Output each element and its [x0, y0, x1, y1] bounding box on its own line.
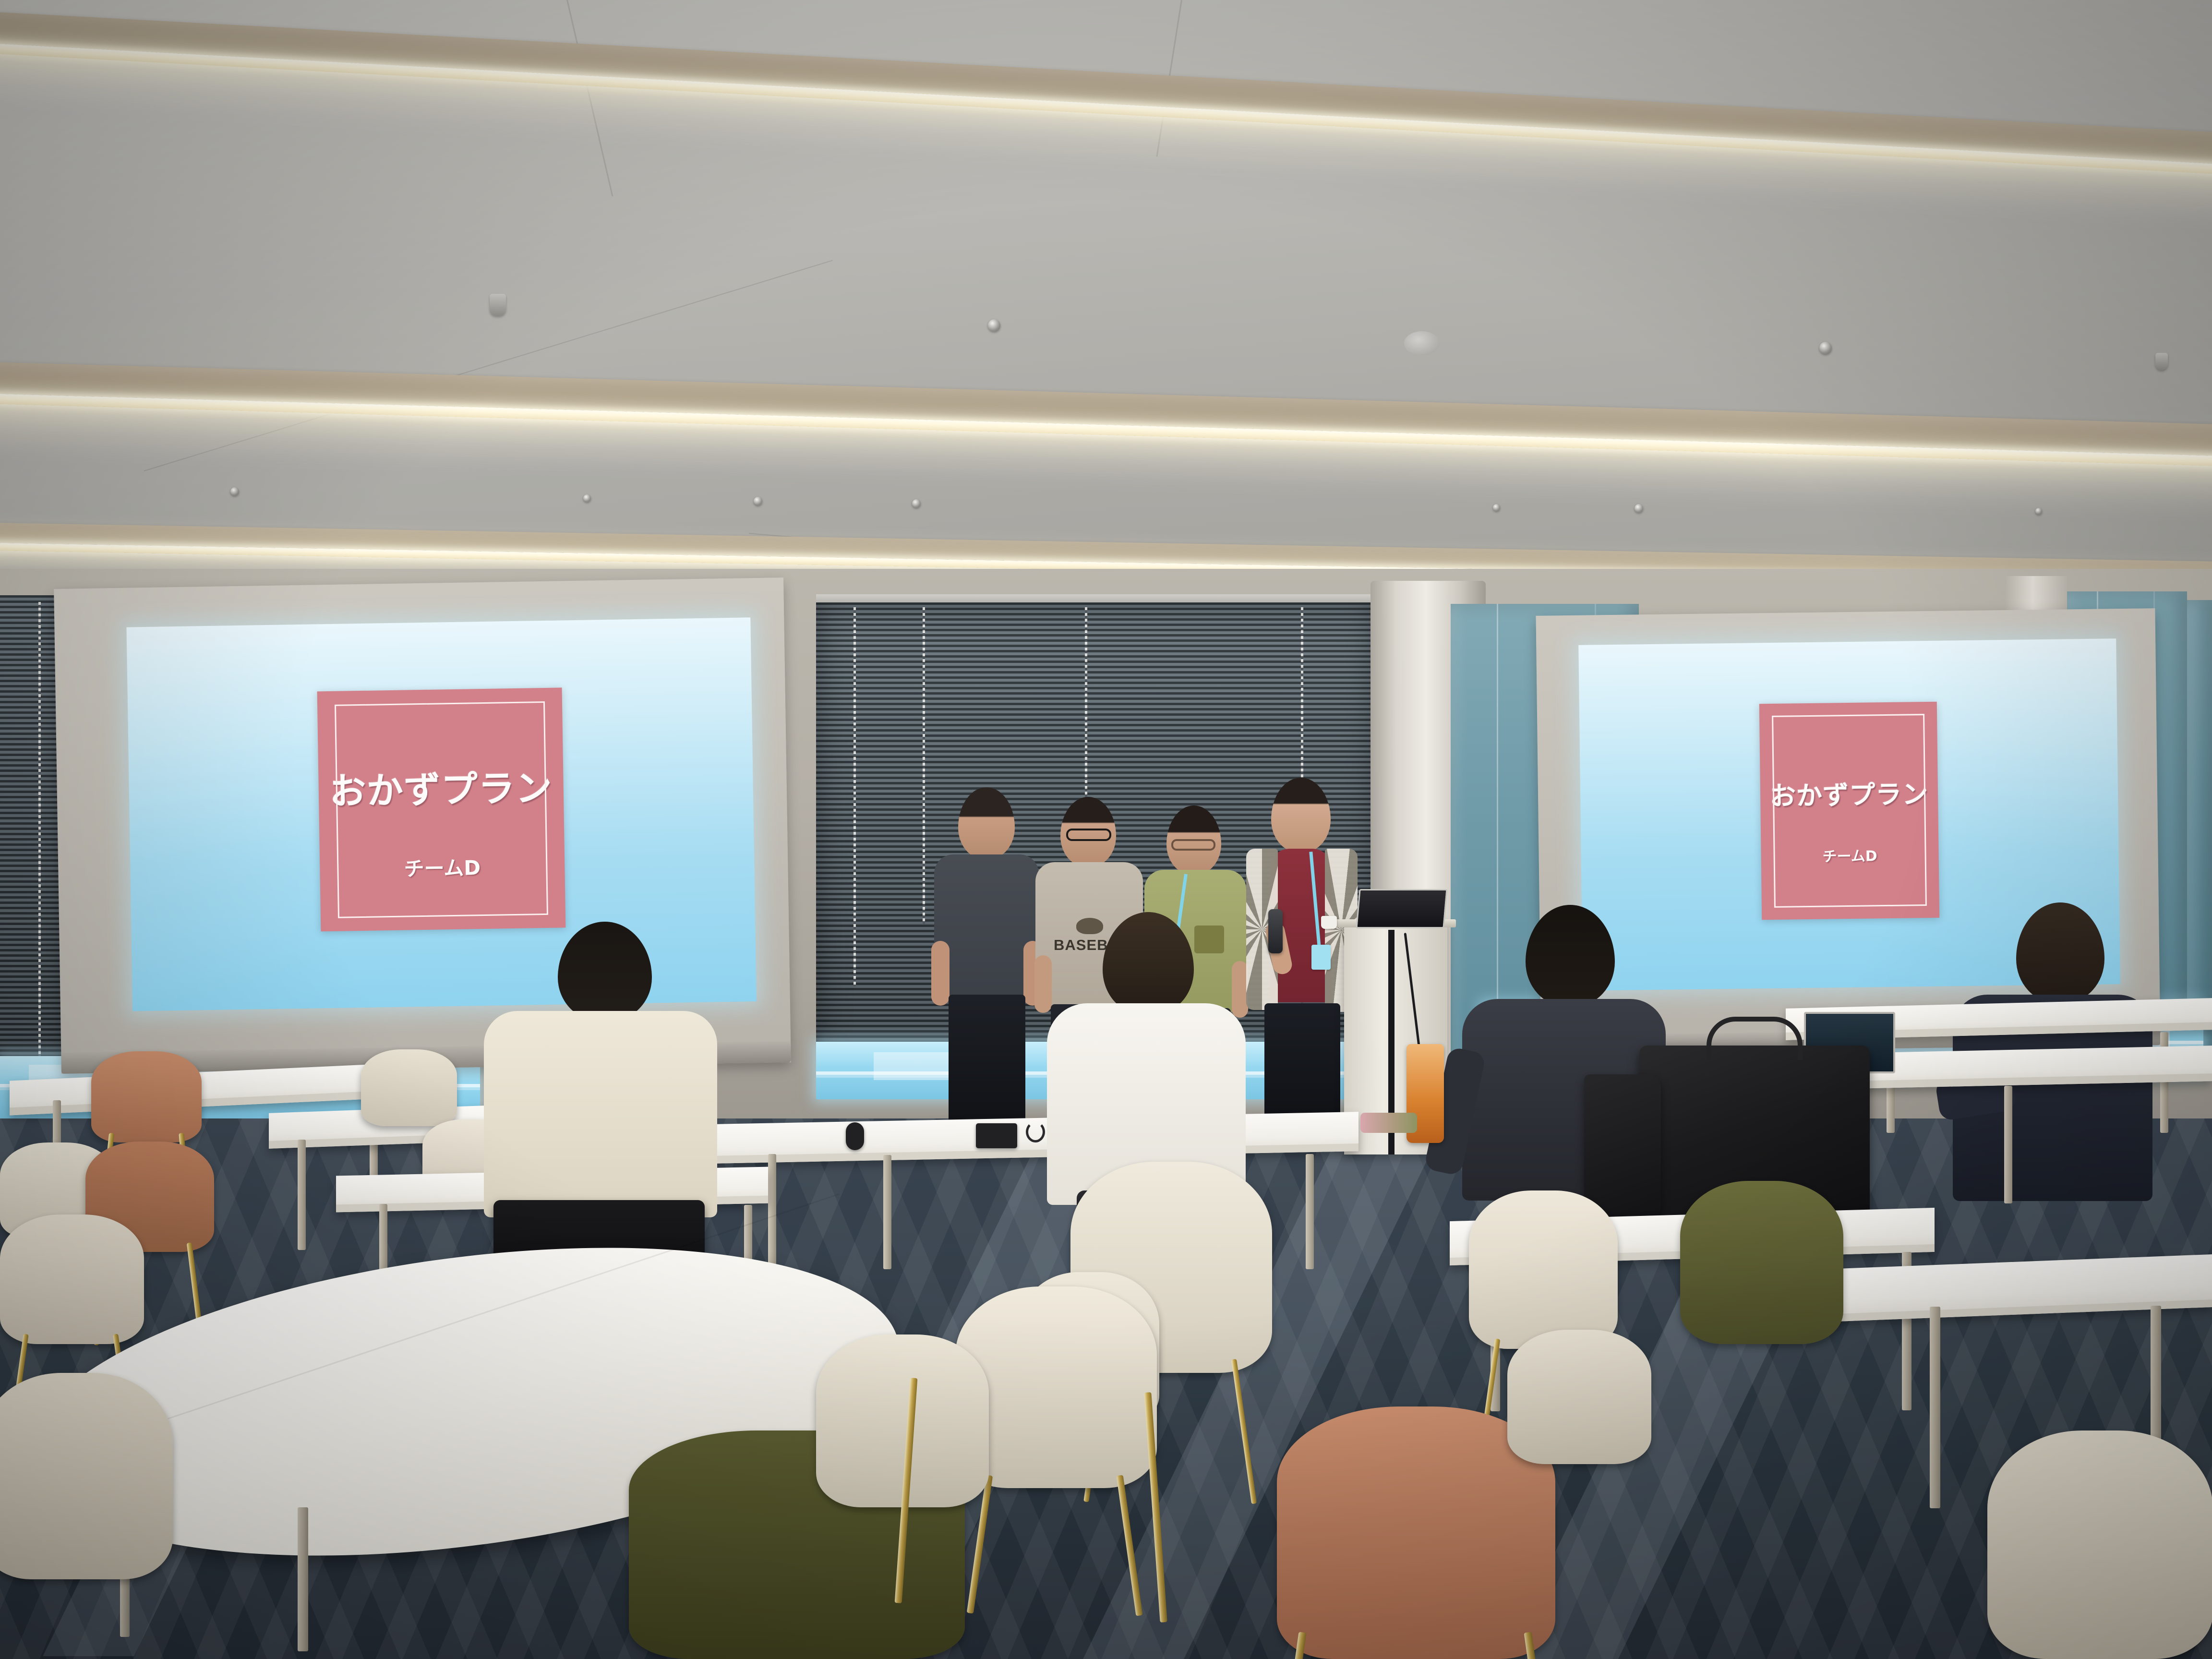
ceiling — [0, 0, 2212, 590]
ceiling-spot-light — [1493, 504, 1500, 511]
table-leg — [883, 1155, 891, 1269]
meeting-room-photo: おかずプラン チームD おかずプラン チームD — [0, 0, 2212, 1659]
slide-title-box: おかずプラン チームD — [317, 687, 566, 931]
ceiling-spot-light — [1819, 342, 1832, 354]
black-adapter-box[interactable] — [976, 1123, 1017, 1148]
chair-rear-beige-c[interactable] — [361, 1049, 457, 1126]
attendee-head — [1526, 905, 1615, 1007]
attendee-head — [1103, 912, 1194, 1015]
paper-cup — [1321, 916, 1337, 929]
slide-title-text: おかずプラン — [1769, 772, 1928, 812]
presenter-head — [1271, 778, 1331, 853]
chair-frame-foreground-b[interactable] — [1152, 1392, 1164, 1623]
chair-front-left-tan[interactable] — [0, 1373, 173, 1579]
slide-title-box: おかずプラン チームD — [1759, 702, 1939, 920]
bag-handle — [1707, 1017, 1803, 1060]
ceiling-spot-light — [912, 499, 921, 508]
slide-subtitle-text: チームD — [404, 852, 481, 882]
table-leg — [1930, 1307, 1940, 1508]
ceiling-spot-light — [2035, 508, 2042, 515]
presenter-glasses — [1066, 829, 1111, 841]
chair-right-beige-c[interactable] — [1507, 1330, 1651, 1464]
roller-shade-far-right[interactable] — [2187, 600, 2212, 1051]
sprinkler-head — [2155, 353, 2168, 370]
slide-subtitle-text: チームD — [1822, 844, 1877, 866]
presenter-legs — [1264, 1003, 1340, 1123]
ceiling-spot-light — [583, 494, 591, 502]
attendee-head — [2016, 902, 2104, 1003]
headset-device[interactable] — [846, 1122, 864, 1150]
ceiling-spot-light — [988, 319, 1000, 332]
chair-frame-foreground-a[interactable] — [902, 1378, 914, 1603]
ceiling-vent — [1404, 331, 1440, 355]
presenter-head — [958, 787, 1015, 859]
chair-right-olive[interactable] — [1680, 1181, 1843, 1344]
ceiling-spot-light — [1635, 504, 1643, 513]
presenter-laptop[interactable] — [1356, 889, 1447, 928]
chair-rear-terracotta-a[interactable] — [91, 1051, 202, 1142]
ceiling-spot-light — [230, 487, 239, 496]
attendee-torso — [484, 1011, 717, 1217]
oval-table-leg — [298, 1507, 308, 1651]
slide-title-text: おかずプラン — [329, 758, 553, 814]
presenter-1 — [931, 787, 1042, 1123]
attendee-head — [558, 922, 652, 1022]
ceiling-spot-light — [754, 497, 762, 505]
snack-items — [1360, 1113, 1417, 1133]
presenter-4 — [1243, 778, 1361, 1123]
table-leg — [1306, 1154, 1314, 1269]
chair-right-beige-b[interactable] — [1987, 1431, 2212, 1659]
table-leg — [768, 1154, 776, 1267]
microphone[interactable] — [1268, 909, 1283, 953]
presenter-arm-left — [931, 941, 950, 1006]
presenter-legs — [949, 995, 1025, 1123]
name-badge — [1311, 945, 1331, 970]
chair-right-beige-a[interactable] — [1469, 1190, 1618, 1349]
table-leg — [2004, 1086, 2012, 1203]
table-leg — [298, 1140, 306, 1250]
chair-rear-beige-b[interactable] — [0, 1214, 144, 1344]
sprinkler-head — [490, 294, 506, 316]
presenter-glasses — [1171, 839, 1215, 851]
